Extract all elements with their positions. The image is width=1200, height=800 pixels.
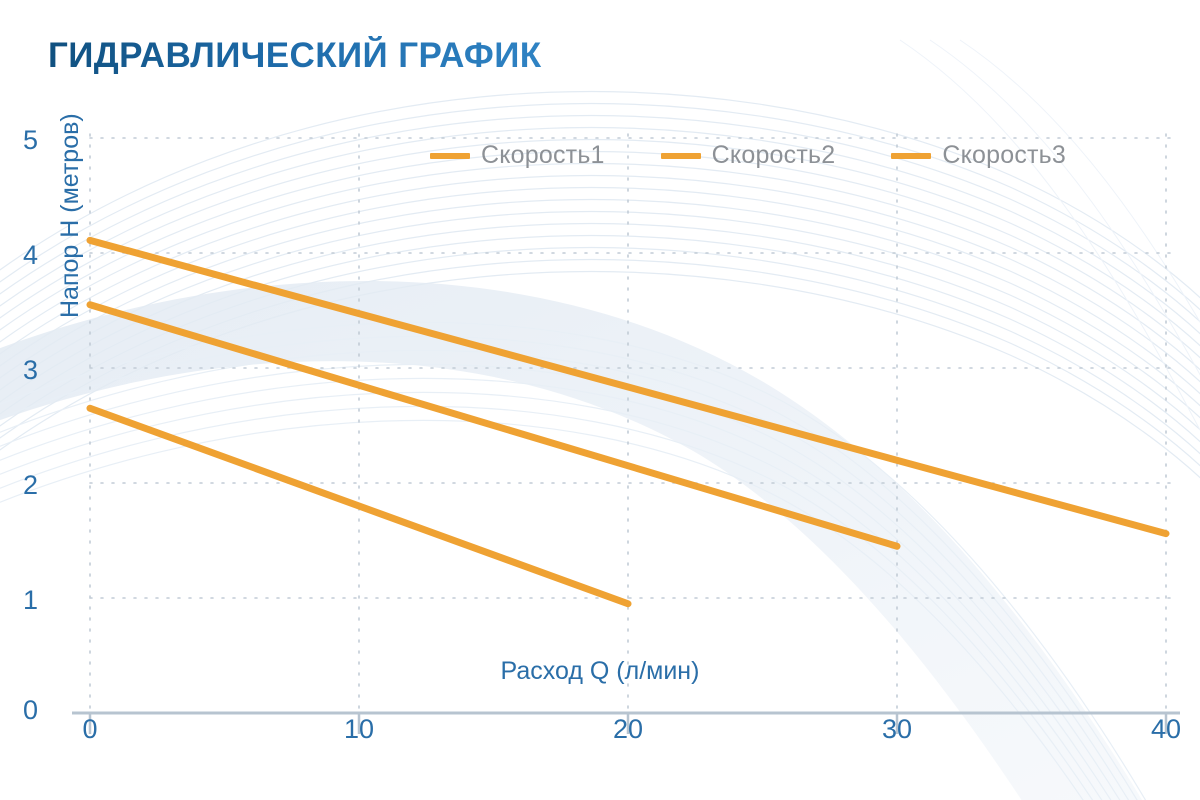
x-tick-label-40: 40: [1136, 714, 1196, 745]
legend-item-skorost2[interactable]: Скорость2: [661, 141, 836, 170]
y-tick-label-1: 1: [0, 585, 38, 616]
y-axis-title: Напор H (метров): [56, 88, 85, 318]
y-tick-label-2: 2: [0, 470, 38, 501]
legend-item-skorost1[interactable]: Скорость1: [430, 141, 605, 170]
x-axis-title: Расход Q (л/мин): [0, 657, 1200, 686]
x-tick-label-0: 0: [60, 714, 120, 745]
grid-horizontal: [90, 138, 1175, 598]
x-tick-label-30: 30: [867, 714, 927, 745]
legend-label: Скорость3: [942, 141, 1066, 170]
chart-legend: Скорость1 Скорость2 Скорость3: [430, 141, 1066, 170]
hydraulic-chart-screenshot: ГИДРАВЛИЧЕСКИЙ ГРАФИК: [0, 0, 1200, 800]
series-line-skorost3: [90, 240, 1166, 533]
legend-item-skorost3[interactable]: Скорость3: [891, 141, 1066, 170]
legend-swatch-icon: [661, 153, 701, 159]
legend-label: Скорость2: [712, 141, 836, 170]
y-tick-label-3: 3: [0, 355, 38, 386]
legend-swatch-icon: [891, 153, 931, 159]
y-tick-label-4: 4: [0, 240, 38, 271]
grid-vertical: [90, 134, 1166, 713]
y-tick-label-0: 0: [0, 695, 38, 726]
legend-swatch-icon: [430, 153, 470, 159]
x-tick-label-20: 20: [598, 714, 658, 745]
y-tick-label-5: 5: [0, 125, 38, 156]
legend-label: Скорость1: [481, 141, 605, 170]
x-tick-label-10: 10: [329, 714, 389, 745]
